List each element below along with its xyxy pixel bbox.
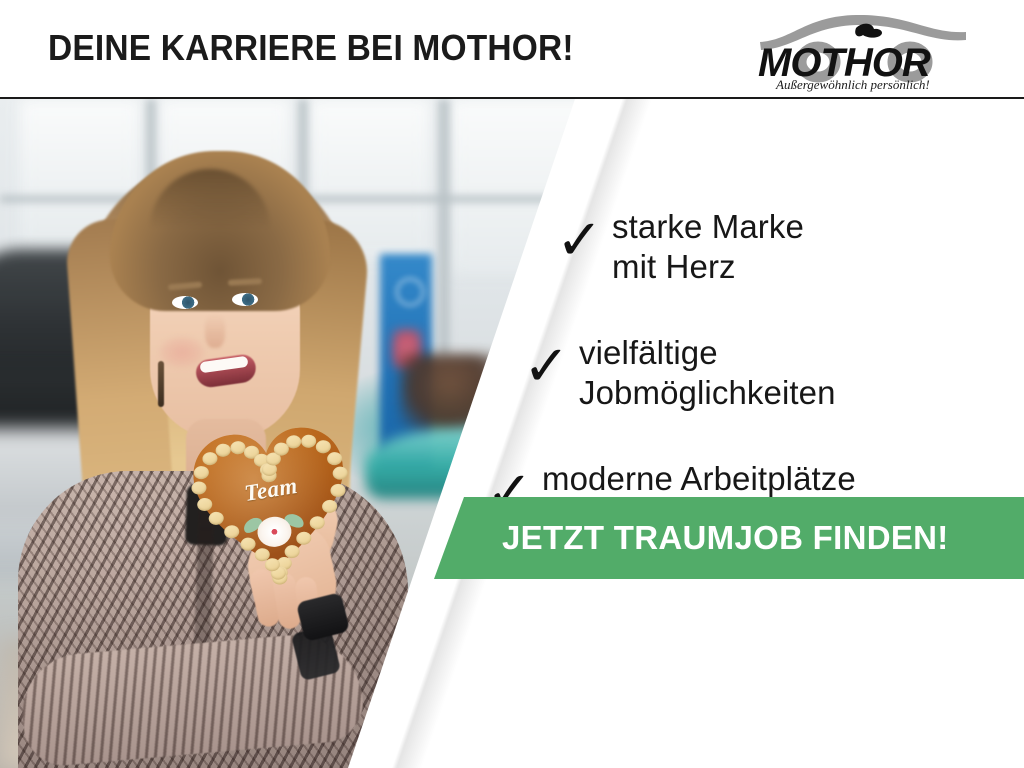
benefit-item-1: ✓ vielfältige Jobmöglichkeiten <box>523 333 836 414</box>
cta-button[interactable]: JETZT TRAUMJOB FINDEN! <box>430 497 1024 579</box>
career-ad-banner: DEINE KARRIERE BEI MOTHOR! MOTHOR Außerg… <box>0 0 1024 768</box>
header-bar: DEINE KARRIERE BEI MOTHOR! MOTHOR Außerg… <box>0 0 1024 99</box>
page-title: DEINE KARRIERE BEI MOTHOR! <box>48 27 574 69</box>
benefit-item-0: ✓ starke Marke mit Herz <box>556 207 804 288</box>
mothor-logo[interactable]: MOTHOR Außergewöhnlich persönlich! <box>752 10 974 92</box>
bird-icon <box>855 24 882 38</box>
check-icon: ✓ <box>523 339 579 395</box>
logo-tagline: Außergewöhnlich persönlich! <box>775 77 930 92</box>
check-icon: ✓ <box>556 213 612 269</box>
mothor-logo-svg: MOTHOR Außergewöhnlich persönlich! <box>752 10 974 92</box>
benefit-text-1: vielfältige Jobmöglichkeiten <box>579 333 836 414</box>
benefit-text-0: starke Marke mit Herz <box>612 207 804 288</box>
benefits-list: ✓ starke Marke mit Herz ✓ vielfältige Jo… <box>0 99 1024 768</box>
cta-label: JETZT TRAUMJOB FINDEN! <box>502 497 972 579</box>
